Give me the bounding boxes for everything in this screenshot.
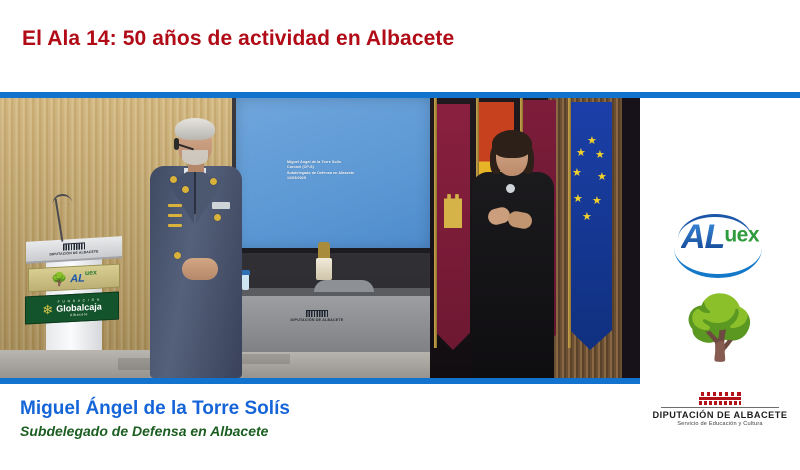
flag-european-union: ★ ★ ★ ★ ★ ★ ★ ★ (570, 102, 612, 350)
institution-department: Servicio de Educación y Cultura (646, 421, 794, 427)
eu-star-icon: ★ (573, 194, 583, 205)
podium-sign-globalcaja: ❄ F U N D A C I Ó N Globalcaja Albacete (25, 292, 119, 325)
globalcaja-city: Albacete (70, 312, 88, 317)
screen-line-4: 12/05/2025 (287, 176, 425, 181)
institution-logo: DIPUTACIÓN DE ALBACETE Servicio de Educa… (646, 392, 794, 427)
tree-logo: 🌳 (640, 298, 800, 360)
podium-plate-label: DIPUTACIÓN DE ALBACETE (49, 249, 98, 256)
interpreter-body (472, 172, 554, 378)
uniform-badge (174, 252, 181, 259)
head-table-plate: DIPUTACIÓN DE ALBACETE (270, 310, 364, 322)
aluex-wordmark: ALuex (640, 220, 800, 254)
aluex-al-text: AL (681, 218, 724, 256)
sign-language-interpreter-video[interactable]: ★ ★ ★ ★ ★ ★ ★ ★ (430, 98, 640, 378)
eu-star-icon: ★ (572, 168, 582, 179)
castle-emblem-icon (699, 392, 741, 405)
trophy-base (316, 258, 332, 280)
eu-star-icon: ★ (592, 196, 602, 207)
speaker-hands (182, 258, 218, 280)
speaker-role: Subdelegado de Defensa en Albacete (20, 423, 268, 439)
uniform-stripe (168, 214, 182, 217)
aluex-uex-text: uex (724, 224, 759, 247)
uniform-badge (182, 186, 189, 193)
trophy (318, 242, 330, 258)
flag-castilla-la-mancha (436, 104, 470, 350)
uniform-badge (210, 178, 217, 185)
eu-star-icon: ★ (597, 172, 607, 183)
media-band: Miguel Ángel de la Torre Solís Coronel (… (0, 92, 800, 384)
institution-name: DIPUTACIÓN DE ALBACETE (646, 410, 794, 420)
uniform-badge (214, 214, 221, 221)
interpreter-figure (466, 132, 562, 378)
leaf-icon: ❄ (42, 302, 53, 316)
aluex-al-text: AL (70, 272, 85, 285)
side-wall (622, 98, 640, 378)
projection-screen-text: Miguel Ángel de la Torre Solís Coronel (… (287, 160, 425, 182)
castle-emblem-icon (63, 242, 85, 250)
flag-pole (568, 98, 571, 348)
uniform-ribbon (212, 202, 230, 209)
interpreter-hair (492, 130, 532, 158)
castle-emblem-icon (306, 310, 328, 317)
eu-star-icon: ★ (576, 148, 586, 159)
interpreter-pin (506, 184, 515, 193)
tree-icon: 🌳 (51, 272, 67, 286)
castle-emblem-icon (444, 192, 462, 228)
screen-frame (234, 248, 430, 253)
header-bar: El Ala 14: 50 años de actividad en Albac… (0, 0, 800, 92)
auditorium-speaker-video[interactable]: Miguel Ángel de la Torre Solís Coronel (… (0, 98, 430, 378)
speaker-hair (175, 118, 215, 140)
podium-sign-aluex: 🌳 ALuex (28, 264, 120, 293)
eu-star-icon: ★ (582, 212, 592, 223)
speaker-beard (182, 150, 208, 165)
aluex-uex-text: uex (85, 269, 97, 277)
footer-bar: Miguel Ángel de la Torre Solís Subdelega… (0, 384, 800, 450)
speaker-figure (138, 112, 254, 378)
uniform-stripe (168, 204, 182, 207)
aluex-logo: ALuex (640, 212, 800, 278)
eu-star-icon: ★ (595, 150, 605, 161)
head-table-label: DIPUTACIÓN DE ALBACETE (291, 318, 344, 322)
tree-icon: 🌳 (681, 294, 758, 363)
page-title: El Ala 14: 50 años de actividad en Albac… (22, 27, 454, 51)
presentation-slide: El Ala 14: 50 años de actividad en Albac… (0, 0, 800, 450)
table-shadow (314, 280, 374, 292)
uniform-stripe (168, 224, 182, 227)
projection-screen: Miguel Ángel de la Torre Solís Coronel (… (236, 98, 430, 250)
uniform-badge (170, 176, 177, 183)
eu-star-icon: ★ (587, 136, 597, 147)
speaker-name: Miguel Ángel de la Torre Solís (20, 398, 290, 420)
divider (661, 407, 779, 408)
flag-pole (434, 98, 437, 348)
